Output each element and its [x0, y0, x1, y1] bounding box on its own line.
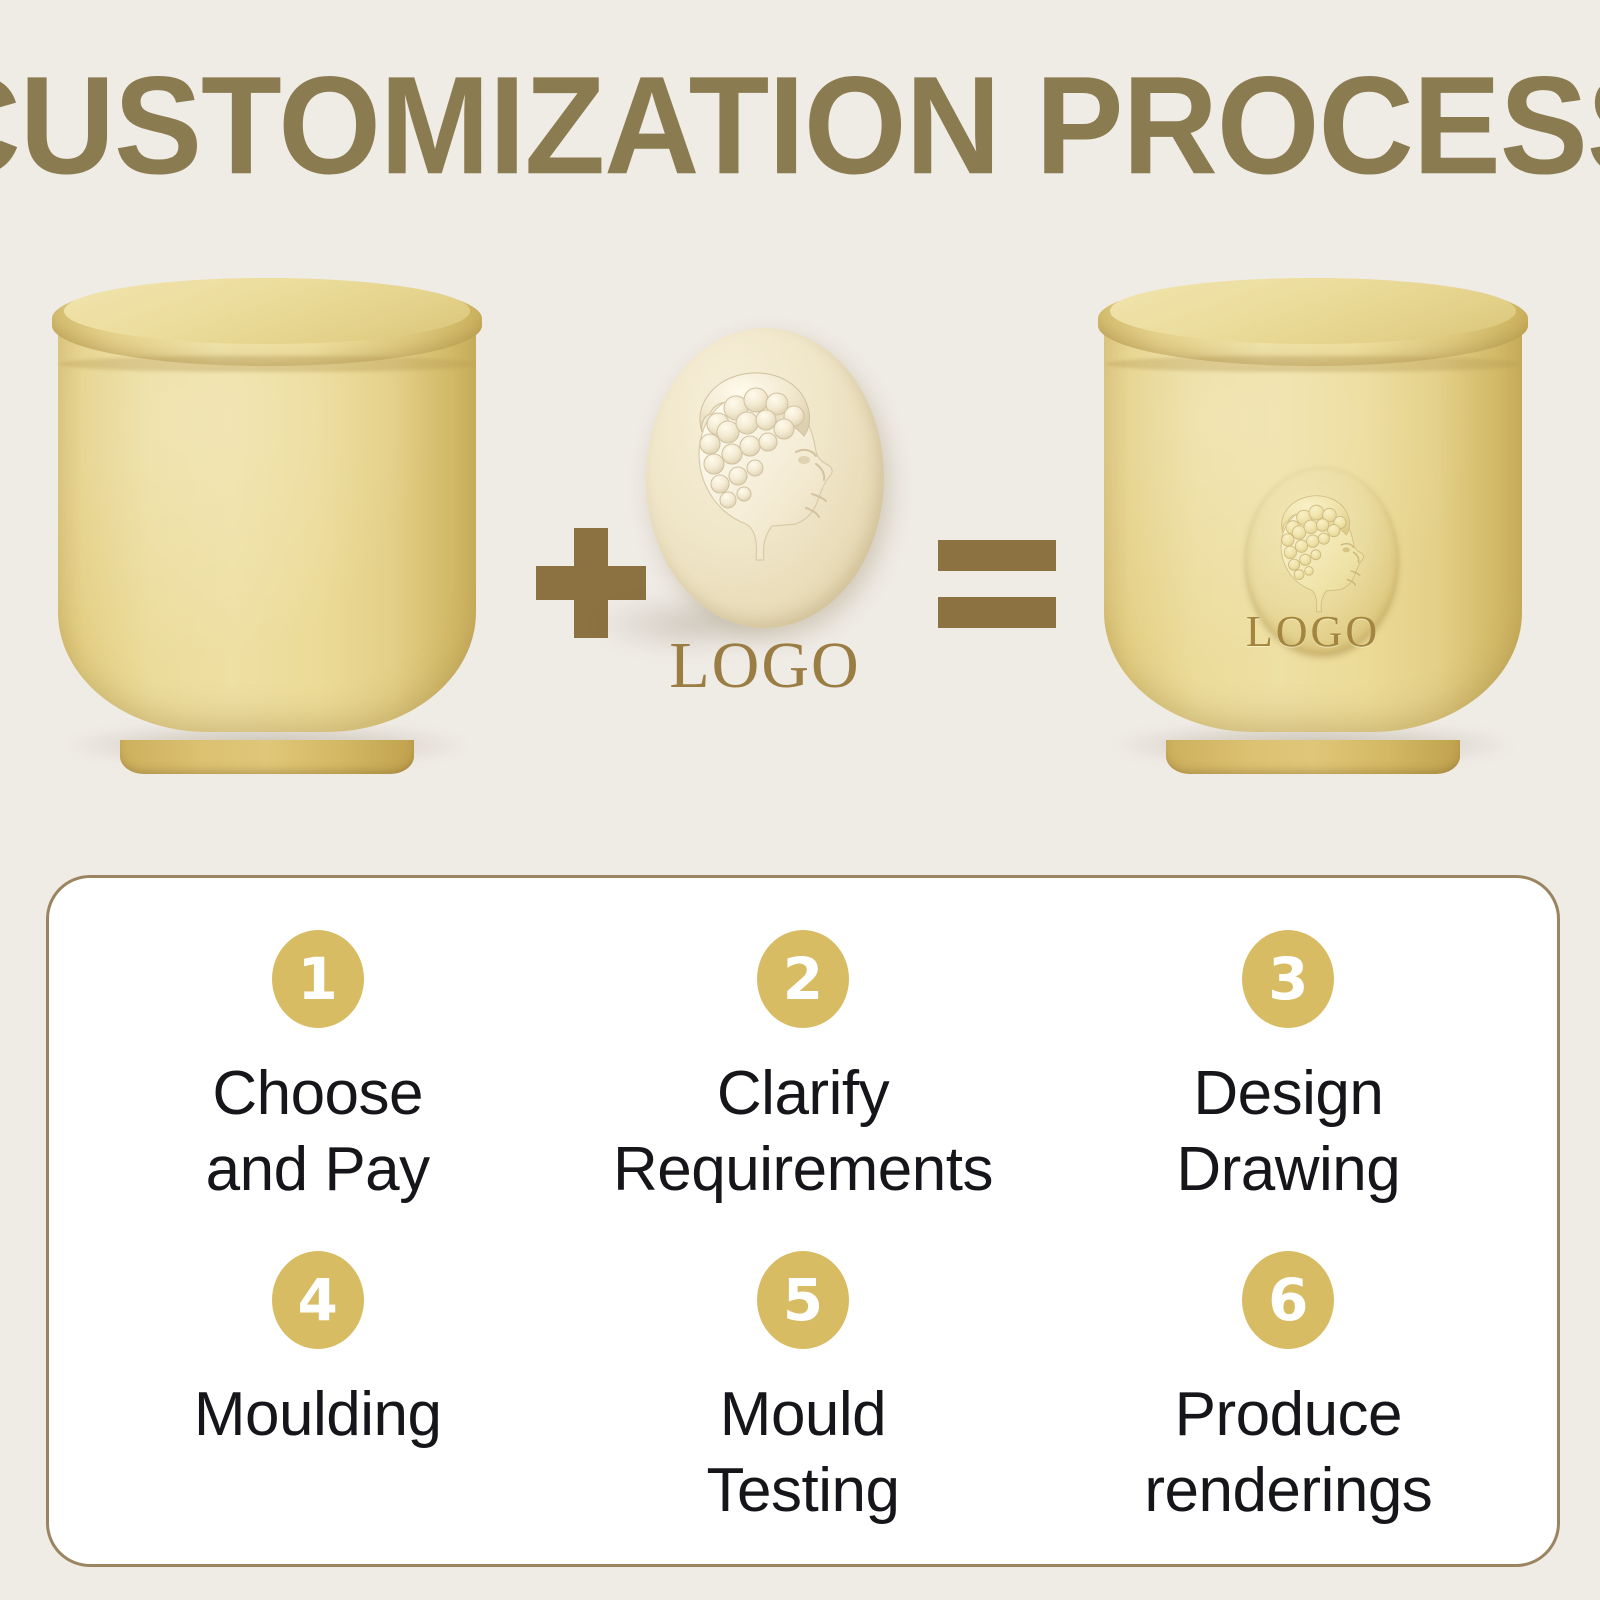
process-step-3[interactable]: 3 Design Drawing: [1046, 916, 1531, 1225]
process-step-2[interactable]: 2 Clarify Requirements: [560, 916, 1045, 1225]
jar-lid: [52, 278, 482, 366]
left-plain-jar: [52, 260, 482, 760]
step-label: Mould Testing: [707, 1377, 900, 1528]
jar-body: [1104, 320, 1522, 732]
page-title-bar: CUSTOMIZATION PROCESS: [0, 66, 1600, 186]
jar-lid-top-surface: [1110, 278, 1516, 344]
step-label: Produce renderings: [1144, 1377, 1432, 1528]
step-number-badge: 1: [272, 930, 364, 1028]
jar-lid-seam: [60, 356, 474, 372]
process-step-6[interactable]: 6 Produce renderings: [1046, 1225, 1531, 1534]
step-label: Clarify Requirements: [613, 1056, 993, 1207]
page-title: CUSTOMIZATION PROCESS: [0, 56, 1600, 195]
jar-lid: [1098, 278, 1528, 366]
step-number-badge: 3: [1242, 930, 1334, 1028]
jar-foot-ring: [120, 740, 414, 774]
step-number-badge: 6: [1242, 1251, 1334, 1349]
jar-logo-text: LOGO: [1098, 606, 1528, 657]
medallion-logo-text: LOGO: [640, 628, 890, 704]
process-steps-card: 1 Choose and Pay 2 Clarify Requirements …: [46, 875, 1560, 1567]
equals-icon: [938, 540, 1056, 628]
hero-product-equation: LOGO: [0, 200, 1600, 820]
jar-body: [58, 320, 476, 732]
process-step-4[interactable]: 4 Moulding: [75, 1225, 560, 1534]
step-label: Design Drawing: [1176, 1056, 1400, 1207]
process-step-5[interactable]: 5 Mould Testing: [560, 1225, 1045, 1534]
step-number-badge: 5: [757, 1251, 849, 1349]
step-label: Choose and Pay: [206, 1056, 430, 1207]
greek-head-medallion-icon: [646, 328, 884, 628]
equals-icon-bottom-bar: [938, 597, 1056, 628]
step-label: Moulding: [194, 1377, 442, 1453]
step-number-badge: 4: [272, 1251, 364, 1349]
process-step-1[interactable]: 1 Choose and Pay: [75, 916, 560, 1225]
equals-icon-top-bar: [938, 540, 1056, 571]
jar-lid-top-surface: [64, 278, 470, 344]
jar-lid-seam: [1106, 356, 1520, 372]
process-steps-grid: 1 Choose and Pay 2 Clarify Requirements …: [49, 878, 1557, 1564]
step-number-badge: 2: [757, 930, 849, 1028]
logo-medallion-group: LOGO: [646, 328, 906, 708]
right-branded-jar: LOGO: [1098, 260, 1528, 760]
jar-foot-ring: [1166, 740, 1460, 774]
